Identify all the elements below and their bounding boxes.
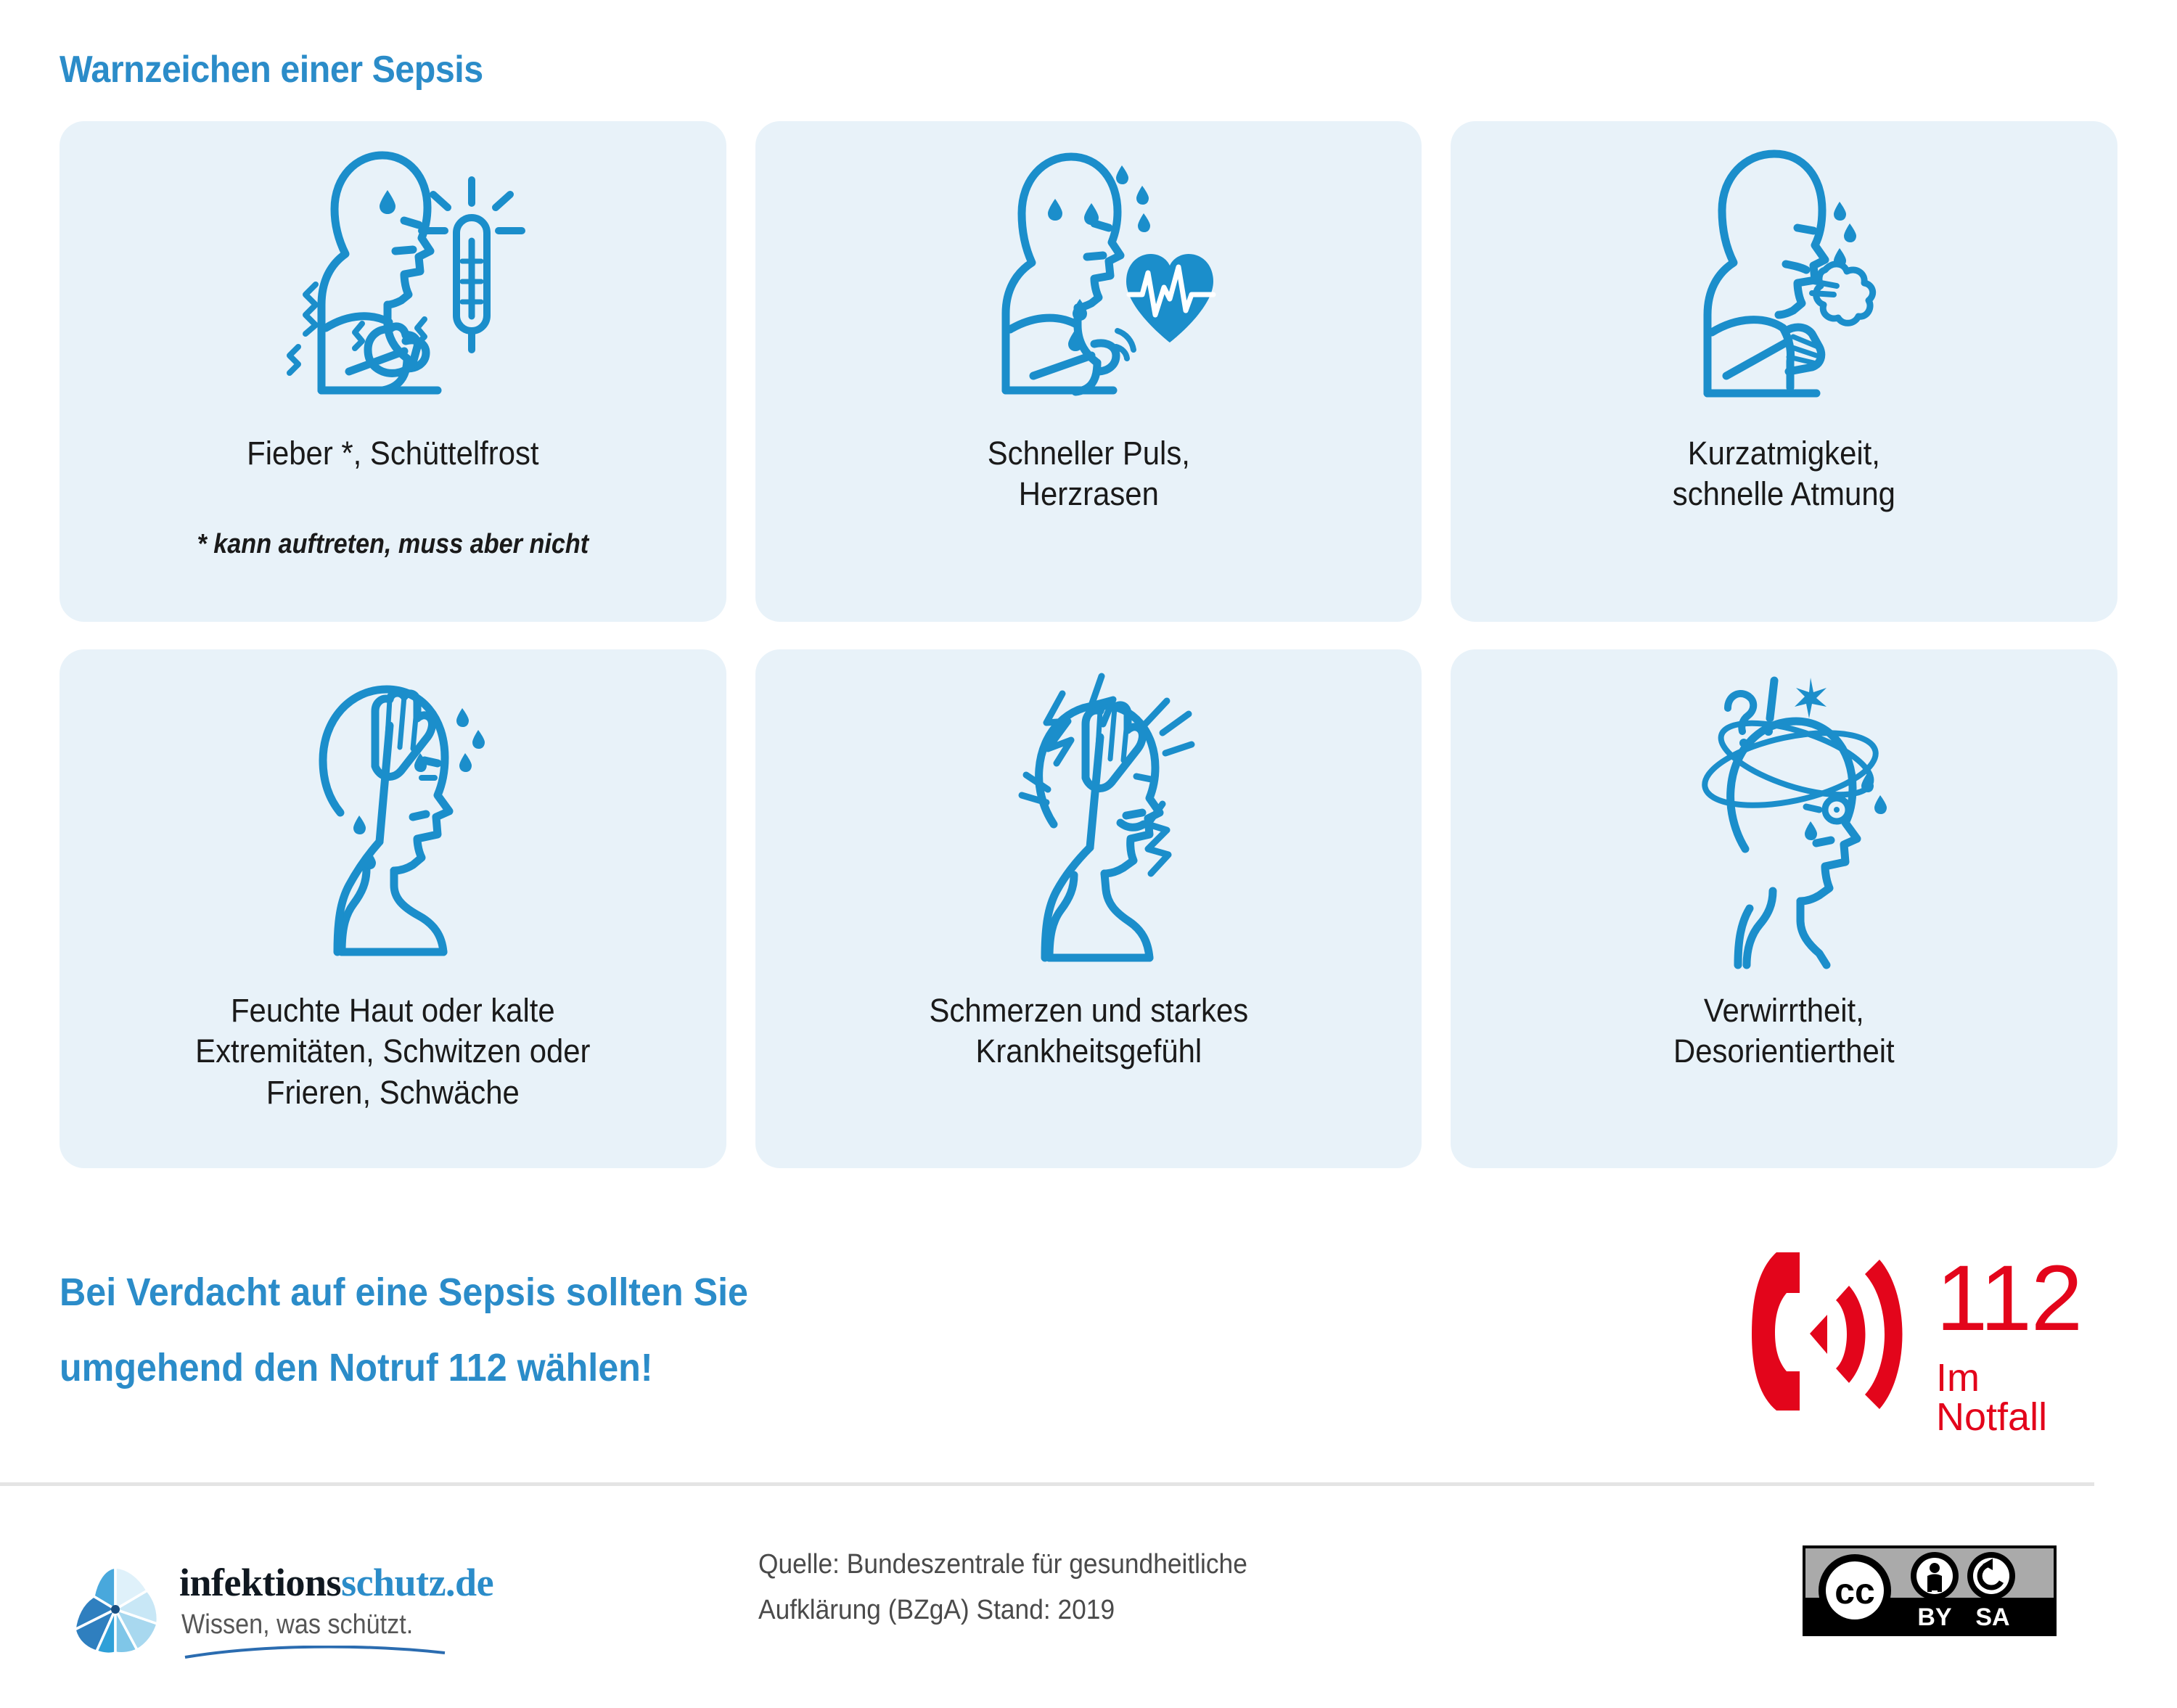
source-note: Quelle: Bundeszentrale für gesundheitlic… [758,1542,1247,1633]
logo-word-blue: schutz.de [341,1561,493,1604]
emergency-call-badge: 112 Im Notfall [1749,1248,2090,1451]
card-caption: Schmerzen und starkes Krankheitsgefühl [799,990,1379,1072]
warning-signs-grid: Fieber *, Schüttelfrost * kann auftreten… [60,121,2117,1168]
logo-tagline: Wissen, was schützt. [181,1609,413,1641]
card-caption: Fieber *, Schüttelfrost [103,433,683,474]
warning-card-clammy-skin: Feuchte Haut oder kalte Extremitäten, Sc… [60,649,726,1168]
page-title: Warnzeichen einer Sepsis [60,48,483,91]
fever-illustration [60,121,726,433]
card-footnote: * kann auftreten, muss aber nicht [112,529,673,560]
pain-illustration [755,649,1422,990]
clammy-skin-illustration [60,649,726,990]
card-caption: Feuchte Haut oder kalte Extremitäten, Sc… [103,990,683,1113]
breathing-illustration [1451,121,2117,433]
card-caption: Verwirrtheit, Desorientiertheit [1494,990,2074,1072]
fever-thermometer-person-icon [240,132,545,422]
emergency-phone-handset-icon [1749,1248,1930,1415]
sweating-cold-skin-person-icon [247,668,538,972]
logo-swoosh-icon [184,1646,474,1660]
pain-severe-illness-person-icon [936,668,1241,972]
creative-commons-by-sa-badge[interactable]: cc BY SA [1803,1545,2057,1636]
card-caption: Kurzatmigkeit, schnelle Atmung [1494,433,2074,515]
confusion-illustration [1451,649,2117,990]
warning-card-confusion: Verwirrtheit, Desorientiertheit [1451,649,2117,1168]
warning-card-breathing: Kurzatmigkeit, schnelle Atmung [1451,121,2117,622]
infographic-page: Warnzeichen einer Sepsis [0,0,2177,1708]
warning-card-fever: Fieber *, Schüttelfrost * kann auftreten… [60,121,726,622]
warning-signs-row-1: Fieber *, Schüttelfrost * kann auftreten… [60,121,2117,622]
logo-word-dark: infektions [179,1561,341,1604]
card-caption: Schneller Puls, Herzrasen [799,433,1379,515]
svg-text:cc: cc [1834,1571,1875,1611]
infektionsschutz-logo[interactable]: infektionsschutz.de Wissen, was schützt. [69,1560,591,1669]
emergency-line-1: Bei Verdacht auf eine Sepsis sollten Sie [60,1270,1207,1315]
cc-by-label: BY [1917,1604,1952,1631]
umbrella-icon [69,1563,163,1657]
warning-signs-row-2: Feuchte Haut oder kalte Extremitäten, Sc… [60,649,2117,1168]
emergency-message: Bei Verdacht auf eine Sepsis sollten Sie… [60,1270,1293,1390]
emergency-number: 112 [1936,1252,2082,1345]
warning-card-pain: Schmerzen und starkes Krankheitsgefühl [755,649,1422,1168]
emergency-subtitle: Im Notfall [1936,1358,2090,1437]
fast-pulse-heart-person-icon [936,132,1241,422]
logo-wordmark: infektionsschutz.de [179,1560,493,1605]
confusion-disorientation-person-icon [1632,668,1937,972]
emergency-line-2: umgehend den Notruf 112 wählen! [60,1345,1207,1390]
pulse-illustration [755,121,1422,433]
cc-sa-label: SA [1975,1604,2009,1631]
footer-divider [0,1482,2094,1486]
shortness-of-breath-person-icon [1632,132,1937,422]
warning-card-pulse: Schneller Puls, Herzrasen [755,121,1422,622]
